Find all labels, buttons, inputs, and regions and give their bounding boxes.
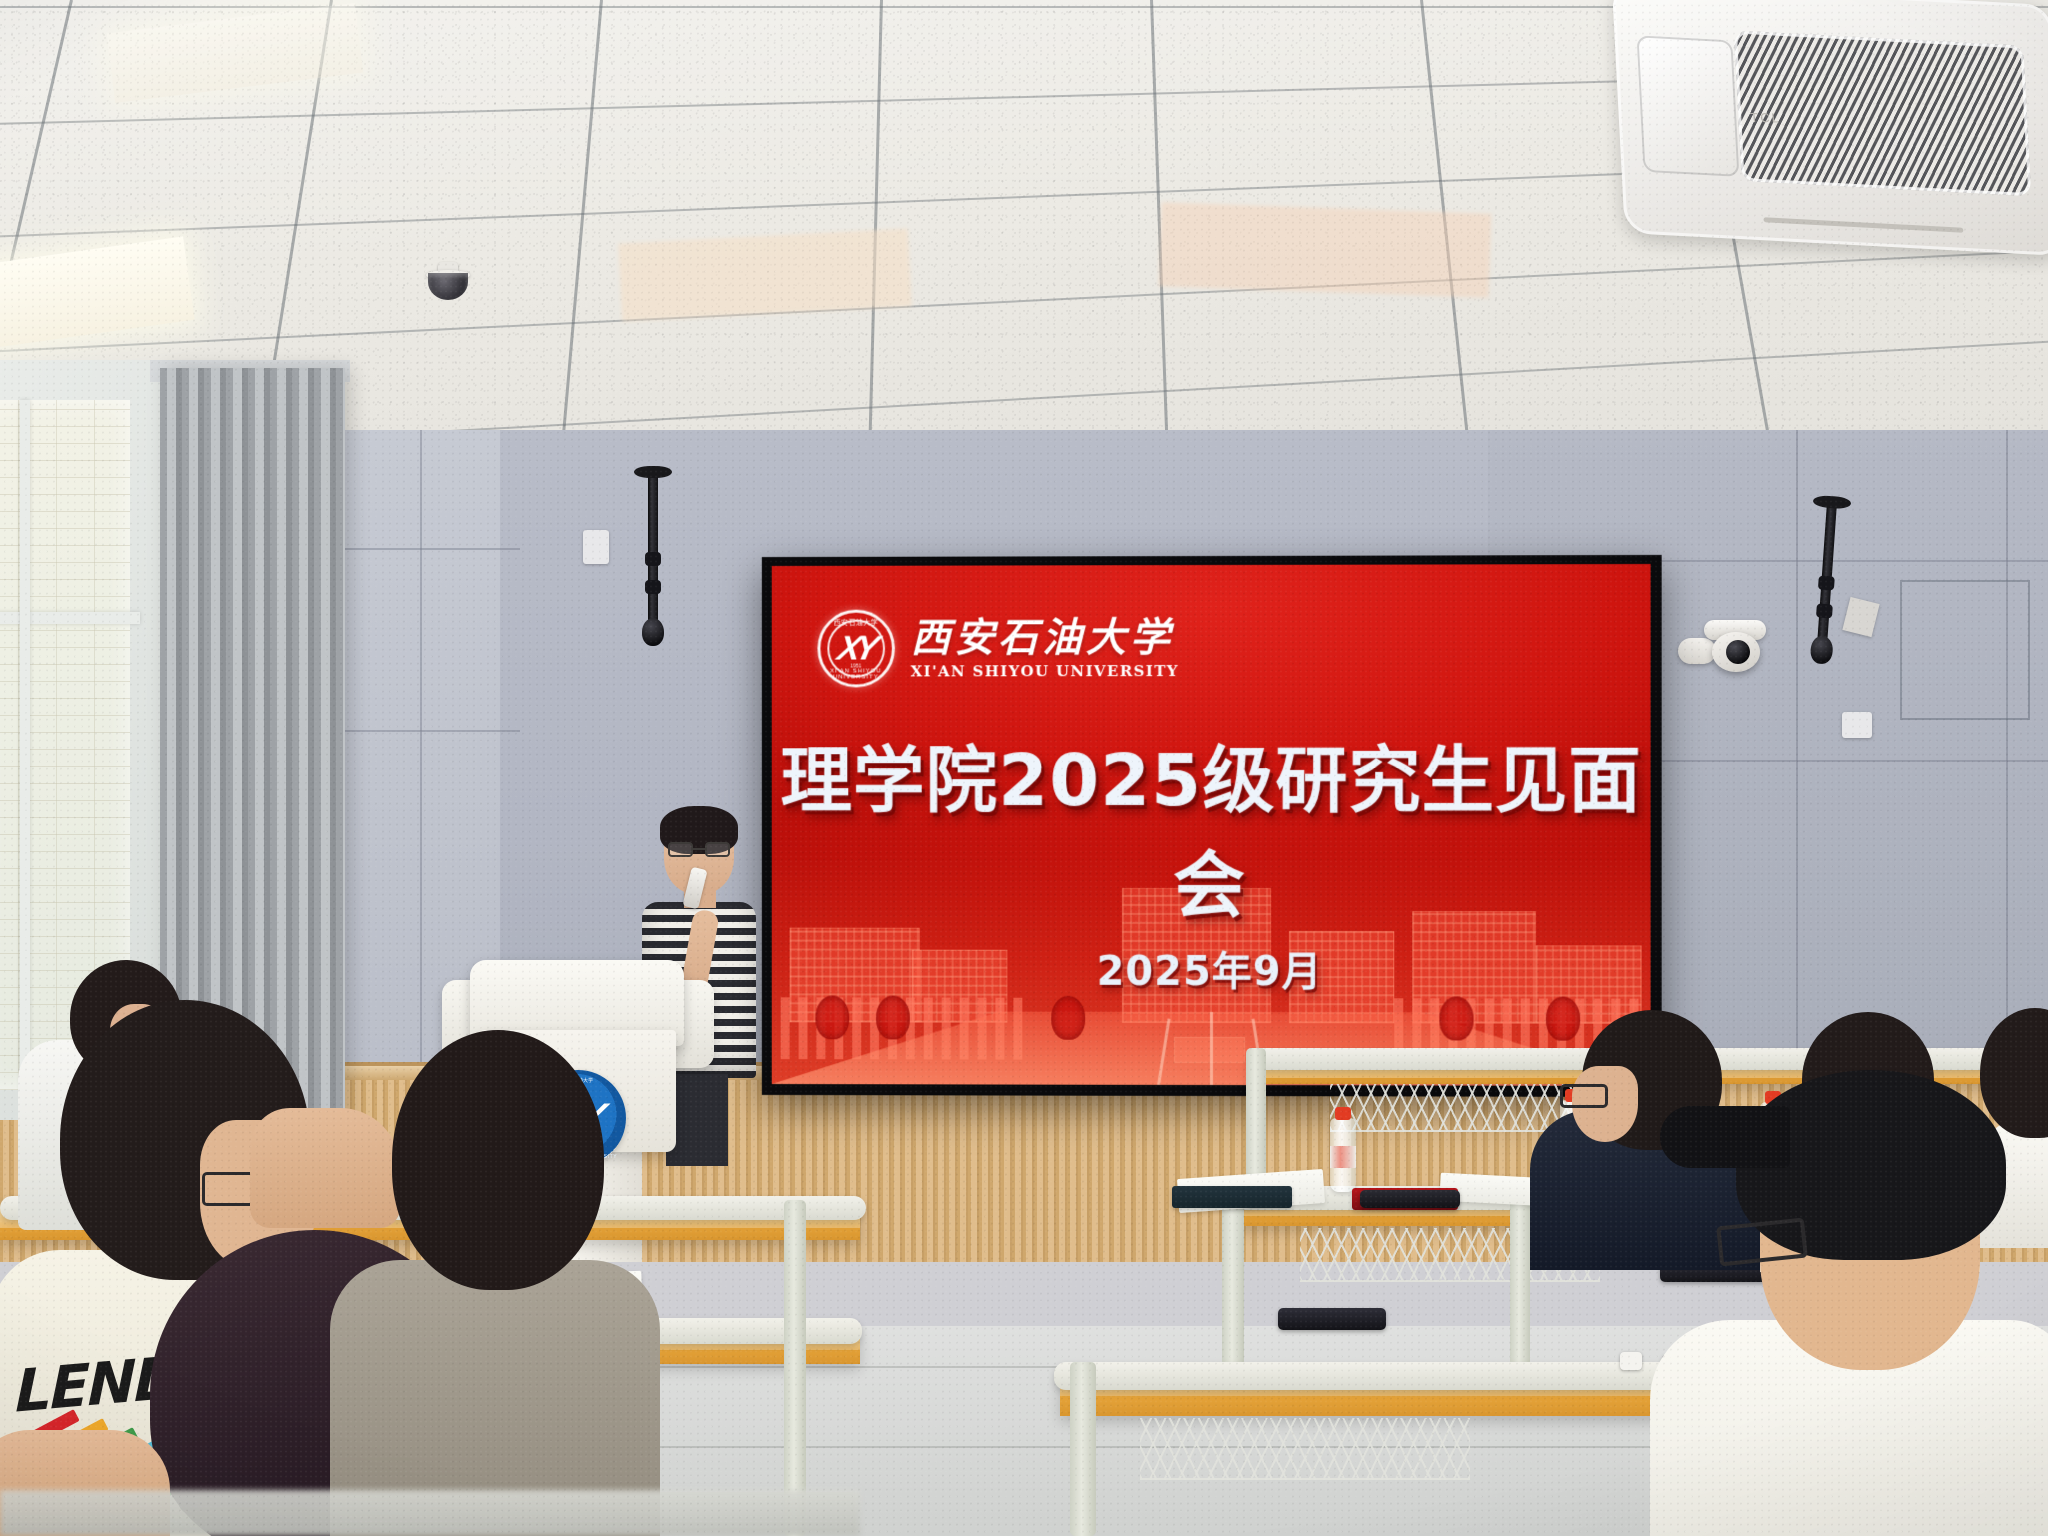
desk-basket [1140,1418,1470,1480]
pole-knuckle [1816,603,1833,618]
led-display-bezel: 西安石油大学 XY 1951 XI'AN SHIYOU UNIVERSITY 西… [762,555,1662,1097]
plaza-marking [1210,1012,1213,1085]
ac-brand-label: TCL [1750,110,1782,126]
wall-dome-camera-icon [1678,616,1770,674]
pole-knuckle [645,580,661,594]
wall-panel-frame [1900,580,2030,720]
pole-ceiling-cap [634,466,672,478]
eyeglasses-icon [668,842,730,858]
desk-leg [1070,1362,1096,1536]
eyeglasses-icon [1560,1084,1608,1108]
lecture-hall-photo: TCL [0,0,2048,1536]
eyeglasses-icon [202,1172,256,1206]
pole-knuckle [1818,575,1835,590]
smartphone[interactable] [1278,1308,1386,1330]
ac-side-panel [1636,35,1739,177]
seal-bottom-text: XI'AN SHIYOU UNIVERSITY [820,669,892,681]
wall-switch[interactable] [1842,712,1872,738]
university-name-block: 西安石油大学 XI'AN SHIYOU UNIVERSITY [911,617,1179,680]
ceiling-tile-warm [1159,202,1492,297]
person-shoulders [330,1260,660,1536]
desk-leg [784,1200,806,1536]
wall-switch[interactable] [583,530,609,564]
university-name-cn: 西安石油大学 [911,617,1179,659]
audience-member-cap [1690,1070,2048,1536]
university-name-en: XI'AN SHIYOU UNIVERSITY [911,662,1179,680]
bottle-label [1330,1146,1356,1168]
smartphone[interactable] [1360,1190,1460,1208]
camera-dome [428,273,468,300]
cap-brim [1660,1106,1790,1168]
wall-panel-seam [420,430,422,1070]
campus-tree [1440,996,1474,1040]
bottle-cap [1335,1107,1351,1120]
desk-leg [1222,1186,1244,1366]
wall-panel-seam [2006,430,2008,1070]
pole-speaker-head [642,618,664,646]
seal-monogram: XY [835,632,877,666]
pole-knuckle [645,552,661,566]
person-head [392,1030,604,1290]
seal-top-text: 西安石油大学 [820,618,892,628]
university-logo-lockup: 西安石油大学 XY 1951 XI'AN SHIYOU UNIVERSITY 西… [817,609,1179,687]
camera-arm [1678,638,1716,664]
ceiling-tile-warm [618,228,912,321]
led-display-screen: 西安石油大学 XY 1951 XI'AN SHIYOU UNIVERSITY 西… [772,564,1651,1086]
slide-title: 理学院2025级研究生见面会 [772,721,1651,932]
ceiling-dome-camera-icon [426,262,470,302]
slide-date: 2025年9月 [772,939,1651,998]
camera-lens [1726,640,1750,664]
wall-panel-seam [1796,430,1798,1070]
air-conditioner-unit: TCL [1612,0,2048,256]
water-bottle[interactable] [1330,1118,1356,1192]
campus-tree [1052,996,1086,1040]
ceiling-speaker-pole-left [648,474,658,626]
desk-leg [1510,1186,1530,1366]
university-seal-icon: 西安石油大学 XY 1951 XI'AN SHIYOU UNIVERSITY [817,610,895,688]
notebook[interactable] [1172,1186,1292,1208]
earbud-case[interactable] [1620,1352,1642,1370]
audience-member-edge [0,1430,170,1536]
campus-tree [877,996,911,1040]
audience-member-center [330,1030,670,1536]
campus-tree [815,995,849,1039]
person-shoulders [0,1430,170,1536]
